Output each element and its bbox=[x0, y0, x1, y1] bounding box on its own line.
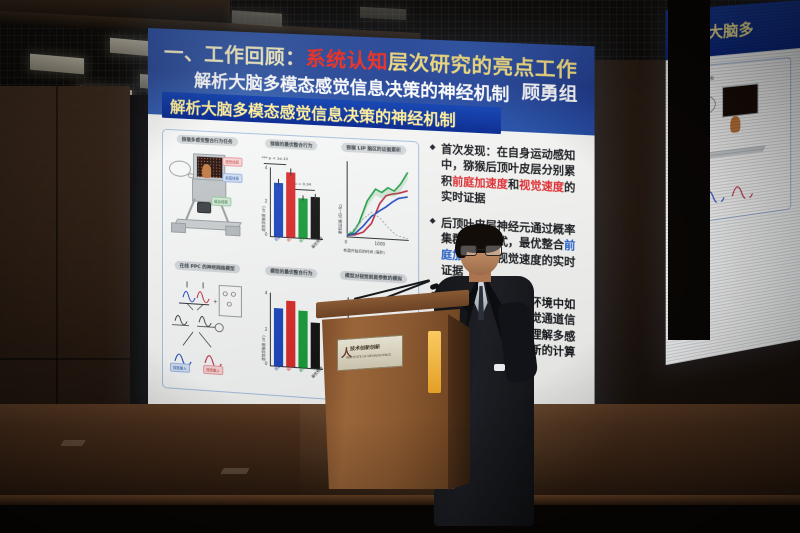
glasses-lens-right bbox=[485, 245, 502, 256]
figure-panel-4-title: 在线 PPC 的神经网络模型 bbox=[175, 261, 240, 274]
research-group-label: 顾勇组 bbox=[522, 78, 578, 106]
error-bar bbox=[303, 195, 304, 200]
figure-panel-1: 猕猴多感觉整合行为任务 视觉线索 前庭线索 bbox=[167, 134, 248, 259]
podium-side bbox=[448, 314, 470, 490]
rig-foot bbox=[225, 225, 240, 236]
wall-seam bbox=[0, 358, 130, 360]
combined-cue-tag: 组合线索 bbox=[211, 196, 231, 206]
figure-panel-1-title: 猕猴多感觉整合行为任务 bbox=[177, 134, 238, 146]
bar-visual bbox=[286, 301, 295, 367]
rig-foot bbox=[171, 222, 186, 233]
y-tick-4: 4 bbox=[265, 290, 268, 295]
y-axis bbox=[270, 167, 271, 236]
bar-vestibular bbox=[274, 183, 283, 237]
conference-scene: 一、工作回顾：系统认知层次研究的亮点工作 解析大脑多模态感觉信息决策的神经机制 … bbox=[0, 0, 800, 533]
slide-title-highlight: 系统认知 bbox=[306, 47, 388, 74]
right-wall-occluder bbox=[668, 0, 710, 340]
bullet-item-1: 首次发现：在自身运动感知中，猕猴后顶叶皮层分别累积前庭加速度和视觉速度的实时证据 bbox=[430, 142, 584, 214]
secondary-dot-display bbox=[722, 83, 758, 117]
y-axis-label: 感觉灵敏度 (d') bbox=[262, 206, 267, 232]
glasses-lens-left bbox=[460, 245, 477, 256]
bullet-1-seg-2: 前庭加速度 bbox=[452, 176, 508, 191]
floor-vent bbox=[60, 440, 85, 446]
wall-seam bbox=[56, 86, 58, 416]
y-tick-0: 0 bbox=[265, 232, 268, 237]
figure-panel-6-title: 模型对视觉前庭参数的模拟 bbox=[340, 271, 407, 284]
y-axis bbox=[270, 293, 271, 366]
model-input-tag-blue: 前庭输入 bbox=[170, 363, 190, 373]
bar-optimal-prediction bbox=[311, 322, 320, 368]
error-bar bbox=[278, 179, 279, 186]
visual-cue-tag: 视觉线索 bbox=[222, 157, 242, 167]
x-tick-1000: 1000 bbox=[375, 241, 386, 247]
monkey-figure bbox=[202, 164, 211, 179]
bar-visual bbox=[286, 172, 295, 237]
podium-front: 人 技术创新创新 INSTITUTE OF NEUROSCIENCE bbox=[322, 309, 460, 489]
y-tick-2: 2 bbox=[265, 198, 268, 203]
podium-plaque-line2: INSTITUTE OF NEUROSCIENCE bbox=[346, 353, 391, 360]
figure-panel-5-title: 模型的最优整合行为 bbox=[265, 266, 317, 278]
figure-panel-3: 猕猴 LIP 脑区的证据累积 累积证据 (归一化) 0 1000 刺激开始后的时… bbox=[333, 142, 414, 269]
figure-panel-2: 猕猴的最优整合行为 *** p < 1e-10 p = 0.34 感觉灵敏度 (… bbox=[256, 138, 327, 263]
error-bar bbox=[315, 194, 316, 199]
bar-vestibular bbox=[274, 308, 283, 366]
model-input-tag-red: 视觉输入 bbox=[203, 365, 223, 375]
y-axis-label: 累积证据 (归一化) bbox=[338, 204, 343, 234]
rig-motor bbox=[197, 202, 211, 214]
bar-optimal-prediction bbox=[311, 197, 320, 239]
glasses-bridge bbox=[475, 249, 485, 250]
significance-annotation-1: *** p < 1e-10 bbox=[262, 155, 288, 161]
podium: 人 技术创新创新 INSTITUTE OF NEUROSCIENCE bbox=[320, 296, 465, 526]
figure-panel-3-title: 猕猴 LIP 脑区的证据累积 bbox=[341, 143, 406, 156]
bullet-1-seg-3: 和 bbox=[508, 179, 519, 192]
bullet-1-seg-4: 视觉速度 bbox=[519, 179, 564, 194]
svg-text:+: + bbox=[213, 299, 217, 305]
vestibular-cue-tag: 前庭线索 bbox=[222, 173, 242, 183]
bar-combined bbox=[298, 198, 307, 238]
podium-plaque-line1: 技术创新创新 bbox=[350, 343, 380, 352]
y-tick-0: 0 bbox=[265, 361, 268, 366]
x-tick-0: 0 bbox=[345, 239, 348, 244]
left-wall bbox=[0, 86, 130, 416]
x-axis-label: 刺激开始后的时间 (毫秒) bbox=[344, 248, 385, 255]
slide-title-prefix: 一、工作回顾： bbox=[164, 41, 306, 70]
figure-panel-2-title: 猕猴的最优整合行为 bbox=[265, 139, 317, 151]
glasses-icon bbox=[460, 245, 500, 254]
floor-vent bbox=[220, 468, 249, 474]
figure-panel-4: 在线 PPC 的神经网络模型 + bbox=[167, 260, 248, 388]
error-bar bbox=[290, 168, 291, 175]
podium-light-strip bbox=[428, 331, 441, 393]
y-tick-2: 2 bbox=[265, 327, 268, 332]
secondary-monkey bbox=[730, 116, 740, 133]
y-tick-4: 4 bbox=[265, 165, 268, 170]
ceiling-light bbox=[360, 7, 406, 20]
bar-combined bbox=[298, 311, 307, 368]
figure-panel-5: 模型的最优整合行为 感觉灵敏度 (d') 0 2 4 前庭 视觉 组 bbox=[256, 265, 327, 393]
speaker-watch bbox=[494, 364, 505, 371]
evidence-accumulation-plot bbox=[347, 161, 409, 240]
podium-plaque: 人 技术创新创新 INSTITUTE OF NEUROSCIENCE bbox=[337, 335, 403, 372]
y-axis-label: 感觉灵敏度 (d') bbox=[262, 335, 267, 361]
